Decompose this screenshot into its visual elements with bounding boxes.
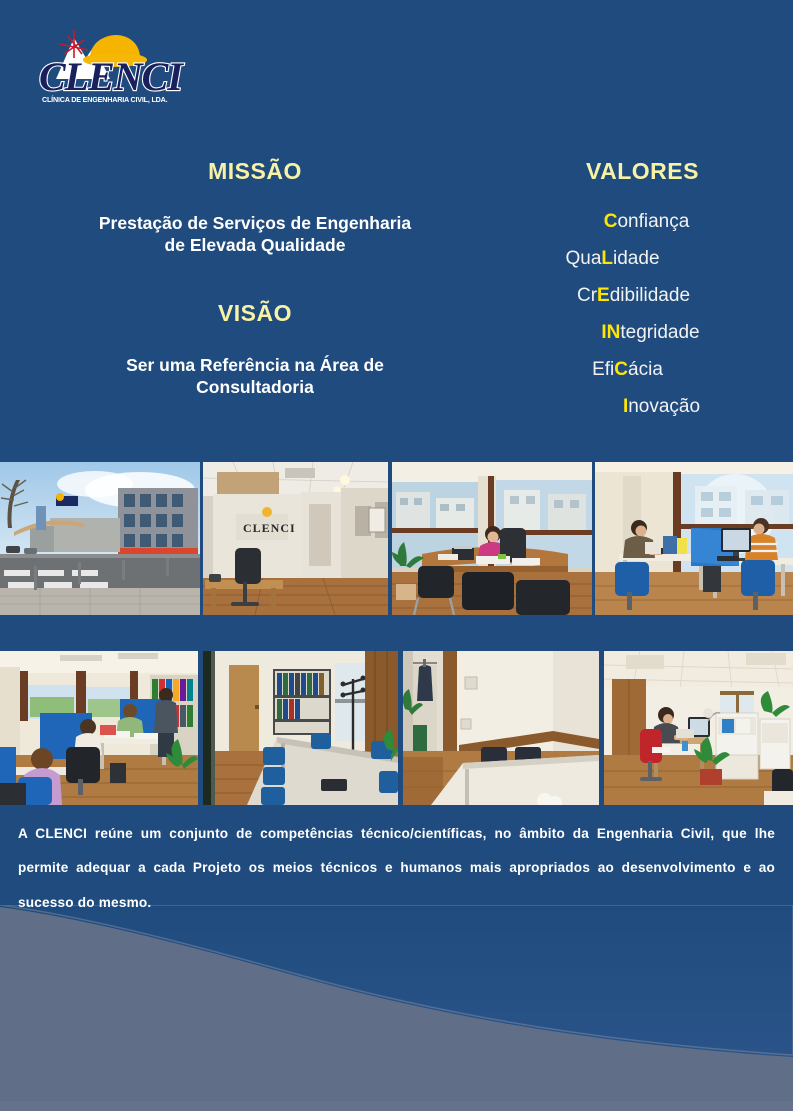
photo-manager-office bbox=[392, 462, 592, 615]
mission-line-1: Prestação de Serviços de Engenharia bbox=[30, 212, 480, 234]
value-item-eficacia: EfiCácia bbox=[470, 360, 785, 379]
photo-reception-corridor: CLENCI bbox=[203, 462, 388, 615]
poster-page: CLENCI CLÍNICA DE ENGENHARIA CIVIL, LDA.… bbox=[0, 0, 793, 1111]
value-suffix: ácia bbox=[628, 359, 663, 380]
value-accent-letter: IN bbox=[601, 322, 620, 343]
photo-street-building bbox=[0, 462, 200, 615]
svg-text:CLENCI: CLENCI bbox=[39, 54, 184, 99]
photo-street-building-image bbox=[0, 462, 200, 615]
value-suffix: tegridade bbox=[620, 322, 699, 343]
vision-line-1: Ser uma Referência na Área de bbox=[30, 354, 480, 376]
value-prefix: Cr bbox=[577, 285, 597, 306]
clenci-logo-icon: CLENCI CLÍNICA DE ENGENHARIA CIVIL, LDA. bbox=[28, 24, 208, 106]
value-accent-letter: E bbox=[597, 285, 610, 306]
value-item-inovacao: Inovação bbox=[538, 397, 785, 416]
photo-openplan-office bbox=[0, 651, 198, 805]
photo-engineers-workstations-image bbox=[595, 462, 793, 615]
mission-vision-column: MISSÃO Prestação de Serviços de Engenhar… bbox=[30, 158, 480, 399]
values-column: VALORES Confiança QuaLidade CrEdibilidad… bbox=[500, 158, 785, 416]
logo-tagline: CLÍNICA DE ENGENHARIA CIVIL, LDA. bbox=[42, 95, 168, 104]
photo-strip-top: CLENCI bbox=[0, 462, 793, 615]
photo-openplan-office-image bbox=[0, 651, 198, 805]
photo-reception-corridor-image: CLENCI bbox=[203, 462, 388, 615]
svg-text:CLENCI: CLENCI bbox=[243, 521, 296, 535]
bottom-wave-decoration bbox=[0, 905, 793, 1111]
value-item-qualidade: QuaLidade bbox=[440, 249, 785, 268]
photo-workstation-shelving bbox=[604, 651, 793, 805]
value-prefix: Qua bbox=[565, 248, 601, 269]
company-description-paragraph: A CLENCI reúne um conjunto de competênci… bbox=[18, 817, 775, 920]
value-accent-letter: L bbox=[601, 248, 613, 269]
value-item-credibilidade: CrEdibilidade bbox=[482, 286, 785, 305]
value-accent-letter: C bbox=[604, 211, 618, 232]
clenci-logo: CLENCI CLÍNICA DE ENGENHARIA CIVIL, LDA. bbox=[28, 24, 208, 104]
mission-heading: MISSÃO bbox=[30, 158, 480, 186]
value-item-integridade: INtegridade bbox=[516, 323, 785, 342]
photo-meeting-room-long-table bbox=[203, 651, 398, 805]
photo-engineers-workstations bbox=[595, 462, 793, 615]
photo-meeting-room-long-table-image bbox=[203, 651, 398, 805]
description-band: A CLENCI reúne um conjunto de competênci… bbox=[0, 805, 793, 915]
values-list: Confiança QuaLidade CrEdibilidade INtegr… bbox=[500, 212, 785, 416]
photo-workstation-shelving-image bbox=[604, 651, 793, 805]
photo-meeting-room-corner-image bbox=[403, 651, 599, 805]
value-suffix: novação bbox=[628, 396, 700, 417]
value-accent-letter: C bbox=[614, 359, 628, 380]
value-suffix: idade bbox=[613, 248, 660, 269]
value-prefix: Efi bbox=[592, 359, 614, 380]
values-heading: VALORES bbox=[500, 158, 785, 186]
vision-heading: VISÃO bbox=[30, 300, 480, 328]
wave-shape-icon bbox=[0, 905, 793, 1111]
vision-line-2: Consultadoria bbox=[30, 376, 480, 398]
photo-meeting-room-corner bbox=[403, 651, 599, 805]
photo-strip-bottom bbox=[0, 651, 793, 805]
mission-line-2: de Elevada Qualidade bbox=[30, 234, 480, 256]
photo-manager-office-image bbox=[392, 462, 592, 615]
value-suffix: onfiança bbox=[617, 211, 689, 232]
value-item-confianca: Confiança bbox=[508, 212, 785, 231]
value-suffix: dibilidade bbox=[610, 285, 690, 306]
